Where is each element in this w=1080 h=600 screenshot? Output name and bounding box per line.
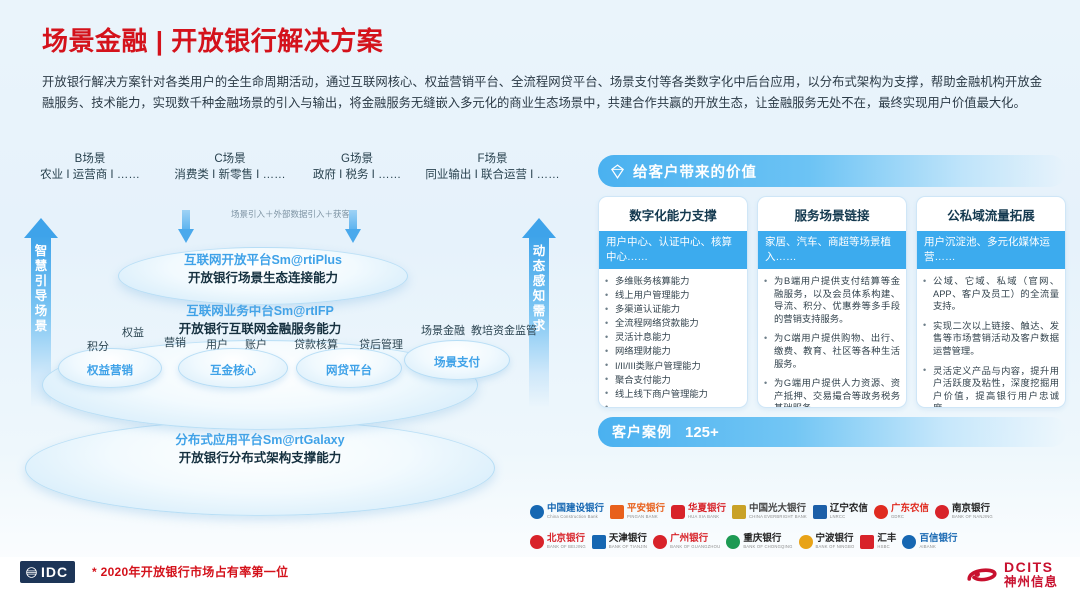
ningbo-mark-icon [799, 535, 813, 549]
customer-logo-grid: 中国建设银行 China Construction Bank 平安银行 PING… [530, 497, 1075, 557]
customer-cases-label: 客户案例 [612, 422, 672, 442]
logo-en: China Construction Bank [547, 514, 604, 520]
dcits-en: DCITS [1004, 560, 1058, 575]
logo-huaxia: 华夏银行 HUA XIA BANK [671, 504, 726, 520]
logo-en: CHINA EVERBRIGHT BANK [749, 514, 807, 520]
logo-en: BANK OF TIANJIN [609, 544, 647, 550]
scene-f: F场景 同业输出 I 联合运营 I …… [405, 152, 580, 184]
logo-cn: 华夏银行 [688, 504, 726, 514]
logo-lnrcc: 辽宁农信 LNRCC [813, 504, 868, 520]
value-card-1-title: 数字化能力支撑 [599, 197, 747, 231]
logo-en: BANK OF GUANGZHOU [670, 544, 720, 550]
idc-label: IDC [41, 564, 68, 580]
galaxy-en: 分布式应用平台Sm@rtGalaxy [25, 432, 495, 449]
solution-architecture-diagram: B场景 农业 I 运营商 I …… C场景 消费类 I 新零售 I …… G场景… [0, 152, 585, 552]
list-item: 为G端用户提供人力资源、资产抵押、交易撮合等政务税务基础服务。 [763, 377, 900, 408]
logo-en: BANK OF NINGBO [816, 544, 855, 550]
logo-row-1: 中国建设银行 China Construction Bank 平安银行 PING… [530, 497, 1075, 527]
tag-edu-fund-supervision: 教培资金监管 [471, 322, 537, 338]
list-item: I/II/III类账户管理能力 [604, 360, 741, 373]
logo-ccb: 中国建设银行 China Construction Bank [530, 504, 604, 520]
lnrcc-mark-icon [813, 505, 827, 519]
scene-f-name: F场景 [405, 152, 580, 167]
hsbc-mark-icon [860, 535, 874, 549]
pod-rights-marketing: 权益营销 [58, 348, 162, 388]
value-card-3-subtitle: 用户沉淀池、多元化媒体运营…… [917, 231, 1065, 269]
iplus-en: 互联网开放平台Sm@rtiPlus [118, 252, 408, 269]
value-card-2-list: 为B端用户提供支付结算等金融服务，以及会员体系构建、导流、积分、优惠券等多手段的… [758, 269, 906, 408]
logo-en: BANK OF CHONGQING [743, 544, 792, 550]
platform-layer-ifp-label: 互联网业务中台Sm@rtIFP 开放银行互联网金融服务能力 [42, 303, 478, 338]
logo-chongqing: 重庆银行 BANK OF CHONGQING [726, 534, 792, 550]
market-share-footnote: * 2020年开放银行市场占有率第一位 [92, 563, 288, 580]
galaxy-cn: 开放银行分布式架构支撑能力 [25, 449, 495, 467]
logo-cn: 辽宁农信 [830, 504, 868, 514]
logo-gdrc: 广东农信 GDRC [874, 504, 929, 520]
value-card-service-scene-link[interactable]: 服务场景链接 家居、汽车、商超等场景植入…… 为B端用户提供支付结算等金融服务，… [757, 196, 907, 408]
customer-cases-count: 125+ [685, 424, 719, 441]
tag-loan-accounting: 贷款核算 [294, 336, 338, 352]
gem-icon [609, 163, 626, 180]
arrow-up-right-label: 动 态 感 知 需 求 [531, 244, 547, 334]
logo-aibank: 百信银行 AIBANK [902, 534, 957, 550]
page-header: 场景金融 | 开放银行解决方案 开放银行解决方案针对各类用户的全生命周期活动，通… [42, 24, 1042, 114]
logo-en: HSBC [877, 544, 896, 550]
scene-f-sub: 同业输出 I 联合运营 I …… [405, 167, 580, 184]
list-item: 多维账务核算能力 [604, 275, 741, 288]
logo-ningbo: 宁波银行 BANK OF NINGBO [799, 534, 855, 550]
value-card-public-private-traffic[interactable]: 公私域流量拓展 用户沉淀池、多元化媒体运营…… 公域、它域、私域（官网、APP、… [916, 196, 1066, 408]
logo-en: PINGAN BANK [627, 514, 665, 520]
platform-layer-iplus-label: 互联网开放平台Sm@rtiPlus 开放银行场景生态连接能力 [118, 252, 408, 287]
pod-scene-payment: 场景支付 [404, 340, 510, 380]
tag-points: 积分 [87, 338, 109, 354]
pingan-mark-icon [610, 505, 624, 519]
logo-cn: 广东农信 [891, 504, 929, 514]
ccb-mark-icon [530, 505, 544, 519]
logo-cn: 重庆银行 [743, 534, 792, 544]
tag-account: 账户 [245, 336, 267, 352]
pod-online-lending: 网贷平台 [296, 348, 402, 388]
dcits-cn: 神州信息 [1004, 575, 1058, 589]
arrow-up-right: 动 态 感 知 需 求 [522, 218, 556, 408]
pod-internet-finance-core: 互金核心 [178, 348, 288, 388]
value-card-2-title: 服务场景链接 [758, 197, 906, 231]
value-card-3-title: 公私域流量拓展 [917, 197, 1065, 231]
logo-cn: 天津银行 [609, 534, 647, 544]
logo-cn: 宁波银行 [816, 534, 855, 544]
arrow-down-c [178, 210, 194, 244]
pod-internet-finance-core-label: 互金核心 [179, 362, 287, 378]
list-item: 实现二次以上链接、触达、发售等市场营销活动及客户数据运营管理。 [922, 320, 1059, 358]
logo-cn: 汇丰 [877, 534, 896, 544]
logo-en: AIBANK [919, 544, 957, 550]
logo-pingan: 平安银行 PINGAN BANK [610, 504, 665, 520]
logo-cn: 百信银行 [919, 534, 957, 544]
logo-everbright: 中国光大银行 CHINA EVERBRIGHT BANK [732, 504, 807, 520]
logo-en: BANK OF NANJING [952, 514, 993, 520]
value-card-digital-capability[interactable]: 数字化能力支撑 用户中心、认证中心、核算中心…… 多维账务核算能力 线上用户管理… [598, 196, 748, 408]
list-item: 多渠道认证能力 [604, 303, 741, 316]
pod-online-lending-label: 网贷平台 [297, 362, 401, 378]
page-description: 开放银行解决方案针对各类用户的全生命周期活动，通过互联网核心、权益营销平台、全流… [42, 72, 1042, 114]
logo-nanjing: 南京银行 BANK OF NANJING [935, 504, 993, 520]
list-item: 为B端用户提供支付结算等金融服务，以及会员体系构建、导流、积分、优惠券等多手段的… [763, 275, 900, 325]
idc-badge: IDC [20, 561, 75, 583]
list-item: …… [604, 402, 741, 408]
value-cards: 数字化能力支撑 用户中心、认证中心、核算中心…… 多维账务核算能力 线上用户管理… [598, 196, 1066, 408]
tag-post-loan: 贷后管理 [359, 336, 403, 352]
ifp-en: 互联网业务中台Sm@rtIFP [42, 303, 478, 320]
flow-note: 场景引入＋外部数据引入＋获客 [183, 208, 398, 220]
list-item: 网络理财能力 [604, 345, 741, 358]
aibank-mark-icon [902, 535, 916, 549]
huaxia-mark-icon [671, 505, 685, 519]
logo-cn: 中国建设银行 [547, 504, 604, 514]
dcits-swirl-icon [966, 564, 998, 586]
logo-cn: 广州银行 [670, 534, 720, 544]
everbright-mark-icon [732, 505, 746, 519]
logo-en: LNRCC [830, 514, 868, 520]
pod-scene-payment-label: 场景支付 [405, 354, 509, 370]
list-item: 灵活计息能力 [604, 331, 741, 344]
iplus-cn: 开放银行场景生态连接能力 [118, 269, 408, 287]
list-item: 线上线下商户管理能力 [604, 388, 741, 401]
pod-rights-marketing-label: 权益营销 [59, 362, 161, 378]
logo-beijing: 北京银行 BANK OF BEIJING [530, 534, 586, 550]
value-card-1-list: 多维账务核算能力 线上用户管理能力 多渠道认证能力 全流程网络贷款能力 灵活计息… [599, 269, 747, 408]
chongqing-mark-icon [726, 535, 740, 549]
logo-en: GDRC [891, 514, 929, 520]
tianjin-mark-icon [592, 535, 606, 549]
value-ribbon-label: 给客户带来的价值 [633, 161, 757, 182]
customer-cases-ribbon: 客户案例 125+ [598, 417, 1066, 447]
logo-en: BANK OF BEIJING [547, 544, 586, 550]
list-item: 线上用户管理能力 [604, 289, 741, 302]
logo-cn: 南京银行 [952, 504, 993, 514]
list-item: 公域、它域、私域（官网、APP、客户及员工）的全流量支持。 [922, 275, 1059, 313]
ifp-cn: 开放银行互联网金融服务能力 [42, 320, 478, 338]
logo-cn: 北京银行 [547, 534, 586, 544]
logo-tianjin: 天津银行 BANK OF TIANJIN [592, 534, 647, 550]
logo-en: HUA XIA BANK [688, 514, 726, 520]
logo-cn: 中国光大银行 [749, 504, 807, 514]
guangzhou-mark-icon [653, 535, 667, 549]
list-item: 聚合支付能力 [604, 374, 741, 387]
arrow-down-g [345, 210, 361, 244]
list-item: 为C端用户提供购物、出行、缴费、教育、社区等各种生活服务。 [763, 332, 900, 370]
logo-row-2: 北京银行 BANK OF BEIJING 天津银行 BANK OF TIANJI… [530, 527, 1075, 557]
list-item: 全流程网络贷款能力 [604, 317, 741, 330]
idc-globe-icon [25, 566, 38, 579]
tag-user: 用户 [206, 336, 228, 352]
value-card-2-subtitle: 家居、汽车、商超等场景植入…… [758, 231, 906, 269]
dcits-brand: DCITS 神州信息 [966, 560, 1058, 589]
scene-labels: B场景 农业 I 运营商 I …… C场景 消费类 I 新零售 I …… G场景… [0, 152, 585, 198]
value-ribbon: 给客户带来的价值 [598, 155, 1066, 187]
nanjing-mark-icon [935, 505, 949, 519]
logo-cn: 平安银行 [627, 504, 665, 514]
logo-guangzhou: 广州银行 BANK OF GUANGZHOU [653, 534, 720, 550]
value-card-3-list: 公域、它域、私域（官网、APP、客户及员工）的全流量支持。 实现二次以上链接、触… [917, 269, 1065, 408]
customer-value-panel: 给客户带来的价值 数字化能力支撑 用户中心、认证中心、核算中心…… 多维账务核算… [598, 155, 1066, 447]
beijing-mark-icon [530, 535, 544, 549]
page-title: 场景金融 | 开放银行解决方案 [42, 24, 1042, 58]
value-card-1-subtitle: 用户中心、认证中心、核算中心…… [599, 231, 747, 269]
gdrc-mark-icon [874, 505, 888, 519]
platform-layer-galaxy-label: 分布式应用平台Sm@rtGalaxy 开放银行分布式架构支撑能力 [25, 432, 495, 467]
list-item: 灵活定义产品与内容，提升用户活跃度及粘性，深度挖掘用户价值，提高银行用户忠诚度。 [922, 365, 1059, 408]
logo-hsbc: 汇丰 HSBC [860, 534, 896, 550]
